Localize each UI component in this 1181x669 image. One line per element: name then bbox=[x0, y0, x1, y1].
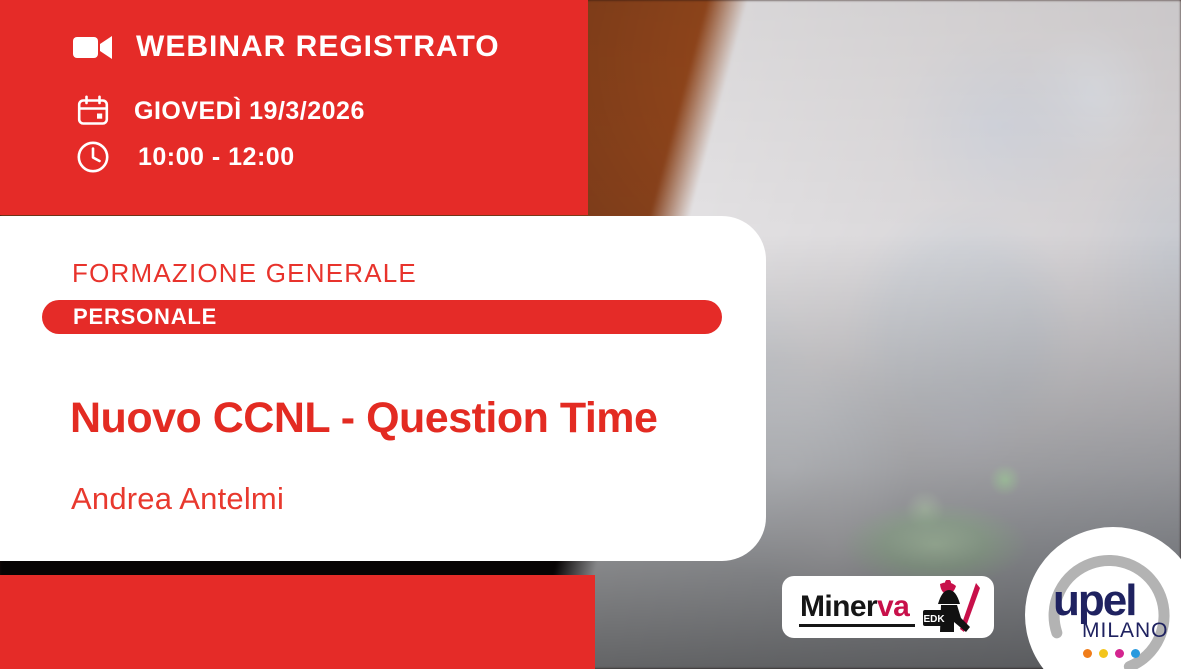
header-label-webinar: WEBINAR REGISTRATO bbox=[136, 30, 500, 64]
page-title: Nuovo CCNL - Question Time bbox=[70, 394, 657, 443]
upel-subtitle: MILANO bbox=[1082, 619, 1169, 643]
upel-dot-3 bbox=[1115, 649, 1124, 658]
category-badge-label: PERSONALE bbox=[73, 304, 217, 330]
upel-dot-1 bbox=[1083, 649, 1092, 658]
minerva-wordmark: Minerva bbox=[800, 590, 909, 624]
calendar-icon bbox=[70, 95, 116, 127]
minerva-underline bbox=[799, 624, 915, 627]
upel-logo: upel MILANO bbox=[1025, 527, 1181, 669]
bottom-red-band bbox=[0, 575, 595, 669]
kicker-text: FORMAZIONE GENERALE bbox=[72, 258, 417, 289]
minerva-logo: Minerva EDK bbox=[782, 576, 994, 638]
header-row-date: GIOVEDÌ 19/3/2026 bbox=[70, 95, 365, 127]
minerva-edk-label: EDK bbox=[923, 614, 945, 625]
webinar-poster: WEBINAR REGISTRATO GIOVEDÌ 19/3/2026 bbox=[0, 0, 1181, 669]
header-label-time: 10:00 - 12:00 bbox=[138, 143, 295, 172]
upel-wordmark: upel bbox=[1053, 579, 1135, 623]
minerva-word-dark: Miner bbox=[800, 590, 877, 623]
header-band: WEBINAR REGISTRATO GIOVEDÌ 19/3/2026 bbox=[0, 0, 588, 215]
upel-dots bbox=[1083, 649, 1140, 658]
upel-dot-2 bbox=[1099, 649, 1108, 658]
header-row-time: 10:00 - 12:00 bbox=[70, 140, 295, 174]
minerva-word-accent: va bbox=[877, 590, 909, 623]
video-camera-icon bbox=[70, 34, 116, 61]
minerva-athena-icon: EDK bbox=[914, 580, 990, 636]
upel-dot-4 bbox=[1131, 649, 1140, 658]
content-card: FORMAZIONE GENERALE PERSONALE Nuovo CCNL… bbox=[0, 216, 766, 561]
header-label-date: GIOVEDÌ 19/3/2026 bbox=[134, 97, 365, 126]
header-row-webinar: WEBINAR REGISTRATO bbox=[70, 30, 500, 64]
speaker-name: Andrea Antelmi bbox=[71, 481, 284, 517]
clock-icon bbox=[70, 140, 116, 174]
category-badge: PERSONALE bbox=[42, 300, 722, 334]
